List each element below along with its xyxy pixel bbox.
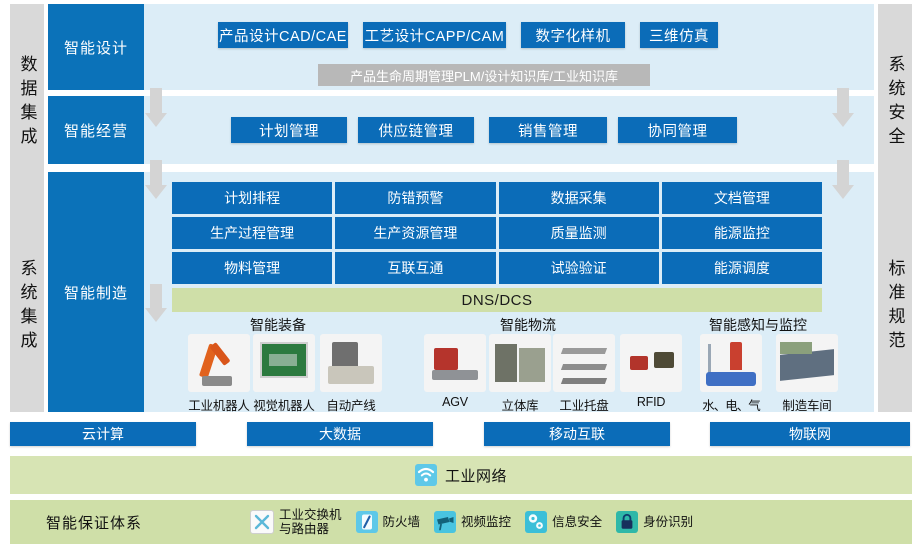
- assurance-item-video-surveillance-label: 视频监控: [461, 515, 511, 529]
- design-box-cad-cae[interactable]: 产品设计CAD/CAE: [218, 22, 348, 48]
- assurance-item-information-security-label: 信息安全: [552, 515, 602, 529]
- device-manufacturing-workshop[interactable]: 制造车间: [776, 334, 838, 414]
- automatic-line-icon: [320, 334, 382, 392]
- mfg-cell-energy-scheduling-label: 能源调度: [714, 258, 770, 278]
- category-smart-manufacture-label: 智能制造: [64, 282, 128, 303]
- assurance-item-identity-recognition[interactable]: 身份识别: [616, 511, 693, 533]
- assurance-switch-line2: 与路由器: [279, 522, 342, 536]
- manufacture-capability-grid: 计划排程 防错预警 数据采集 文档管理 生产过程管理 生产资源管理 质量监测 能…: [172, 182, 822, 284]
- mfg-cell-energy-monitoring[interactable]: 能源监控: [662, 217, 822, 249]
- category-smart-manufacture[interactable]: 智能制造: [48, 172, 144, 412]
- design-box-digital-prototype[interactable]: 数字化样机: [521, 22, 625, 48]
- vision-robot-icon: [253, 334, 315, 392]
- business-box-collaboration-label: 协同管理: [648, 120, 708, 141]
- category-smart-business[interactable]: 智能经营: [48, 96, 144, 164]
- industrial-network-band[interactable]: 工业网络: [10, 456, 912, 494]
- rail-system-integration-label: 系统集成: [19, 259, 36, 355]
- mfg-cell-material-management-label: 物料管理: [224, 258, 280, 278]
- business-box-collaboration[interactable]: 协同管理: [618, 117, 737, 143]
- mfg-cell-test-verification-label: 试验验证: [551, 258, 607, 278]
- mfg-cell-error-prevention-label: 防错预警: [387, 188, 443, 208]
- device-vision-robot-caption: 视觉机器人: [253, 395, 315, 414]
- assurance-item-switch-router-label: 工业交换机 与路由器: [279, 508, 342, 537]
- mfg-cell-production-process-label: 生产过程管理: [210, 223, 294, 243]
- assurance-title: 智能保证体系: [46, 512, 142, 533]
- mfg-cell-material-management[interactable]: 物料管理: [172, 252, 332, 284]
- rfid-icon: [620, 334, 682, 392]
- category-smart-business-label: 智能经营: [64, 120, 128, 141]
- stereo-warehouse-icon: [489, 334, 551, 392]
- device-section-title-smart-logistics: 智能物流: [448, 315, 608, 335]
- flow-arrow-left-business-to-manufacture: [145, 160, 167, 202]
- device-automatic-line-caption: 自动产线: [320, 395, 382, 414]
- design-box-capp-cam[interactable]: 工艺设计CAPP/CAM: [363, 22, 506, 48]
- mfg-cell-quality-monitoring-label: 质量监测: [551, 223, 607, 243]
- design-box-3d-simulation[interactable]: 三维仿真: [640, 22, 718, 48]
- manufacturing-workshop-icon: [776, 334, 838, 392]
- business-box-sales-management-label: 销售管理: [518, 120, 578, 141]
- assurance-switch-line1: 工业交换机: [279, 508, 342, 522]
- rail-standards: 标准规范: [878, 202, 912, 412]
- business-box-sales-management[interactable]: 销售管理: [489, 117, 607, 143]
- device-vision-robot[interactable]: 视觉机器人: [253, 334, 315, 414]
- bottom-strip: [0, 544, 922, 554]
- assurance-item-video-surveillance[interactable]: 视频监控: [434, 511, 511, 533]
- category-smart-design-label: 智能设计: [64, 37, 128, 58]
- utility-icon: [700, 334, 762, 392]
- category-smart-design[interactable]: 智能设计: [48, 4, 144, 90]
- infrastructure-iot-label: 物联网: [789, 424, 831, 444]
- device-water-power-gas-caption: 水、电、气: [700, 395, 762, 414]
- industrial-robot-icon: [188, 334, 250, 392]
- gears-icon: [525, 511, 547, 533]
- flow-arrow-right-design-to-business: [832, 88, 854, 130]
- mfg-cell-test-verification[interactable]: 试验验证: [499, 252, 659, 284]
- mfg-cell-energy-monitoring-label: 能源监控: [714, 223, 770, 243]
- mfg-cell-production-resource-label: 生产资源管理: [373, 223, 457, 243]
- mfg-cell-data-collection[interactable]: 数据采集: [499, 182, 659, 214]
- design-box-3d-simulation-label: 三维仿真: [649, 25, 709, 46]
- rail-system-security-label: 系统安全: [887, 55, 904, 151]
- flow-arrow-right-business-to-manufacture: [832, 160, 854, 202]
- agv-icon: [424, 334, 486, 392]
- mfg-cell-document-management[interactable]: 文档管理: [662, 182, 822, 214]
- mfg-cell-document-management-label: 文档管理: [714, 188, 770, 208]
- plm-knowledge-bar-label: 产品生命周期管理PLM/设计知识库/工业知识库: [350, 66, 618, 85]
- lock-icon: [616, 511, 638, 533]
- device-stereo-warehouse-caption: 立体库: [489, 395, 551, 414]
- mfg-cell-production-resource[interactable]: 生产资源管理: [335, 217, 495, 249]
- infrastructure-mobile-internet-label: 移动互联: [549, 424, 605, 444]
- switch-icon: [250, 510, 274, 534]
- device-rfid[interactable]: RFID: [620, 334, 682, 409]
- flow-arrow-left-manufacture-to-devices: [145, 284, 167, 324]
- industrial-pallet-icon: [553, 334, 615, 392]
- infrastructure-big-data-label: 大数据: [319, 424, 361, 444]
- rail-standards-label: 标准规范: [887, 259, 904, 355]
- device-section-title-smart-sensing: 智能感知与监控: [668, 315, 848, 335]
- assurance-item-identity-recognition-label: 身份识别: [643, 515, 693, 529]
- dns-dcs-bar-label: DNS/DCS: [461, 292, 532, 309]
- mfg-cell-interconnection-label: 互联互通: [387, 258, 443, 278]
- business-box-supply-chain[interactable]: 供应链管理: [358, 117, 474, 143]
- assurance-item-information-security[interactable]: 信息安全: [525, 511, 602, 533]
- device-section-title-smart-equipment: 智能装备: [198, 315, 358, 335]
- infrastructure-cloud-computing[interactable]: 云计算: [10, 422, 196, 446]
- business-box-plan-management-label: 计划管理: [259, 120, 319, 141]
- business-box-supply-chain-label: 供应链管理: [379, 120, 454, 141]
- infrastructure-mobile-internet[interactable]: 移动互联: [484, 422, 670, 446]
- device-industrial-pallet[interactable]: 工业托盘: [553, 334, 615, 414]
- mfg-cell-data-collection-label: 数据采集: [551, 188, 607, 208]
- device-industrial-robot-caption: 工业机器人: [188, 395, 250, 414]
- mfg-cell-quality-monitoring[interactable]: 质量监测: [499, 217, 659, 249]
- device-agv[interactable]: AGV: [424, 334, 486, 409]
- dns-dcs-bar[interactable]: DNS/DCS: [172, 288, 822, 312]
- assurance-item-switch-router[interactable]: 工业交换机 与路由器: [250, 508, 342, 537]
- device-industrial-robot[interactable]: 工业机器人: [188, 334, 250, 414]
- assurance-item-list: 工业交换机 与路由器 防火墙: [250, 508, 693, 537]
- mfg-cell-planning-scheduling[interactable]: 计划排程: [172, 182, 332, 214]
- assurance-item-firewall[interactable]: 防火墙: [356, 511, 421, 533]
- architecture-diagram: 数据集成 系统集成 系统安全 标准规范 智能设计 智能经营 智能制造 产品设计C…: [0, 0, 922, 554]
- mfg-cell-production-process[interactable]: 生产过程管理: [172, 217, 332, 249]
- design-box-capp-cam-label: 工艺设计CAPP/CAM: [365, 25, 505, 46]
- flow-arrow-left-design-to-business: [145, 88, 167, 130]
- plm-knowledge-bar[interactable]: 产品生命周期管理PLM/设计知识库/工业知识库: [318, 64, 650, 86]
- infrastructure-cloud-computing-label: 云计算: [82, 424, 124, 444]
- assurance-band: 智能保证体系 工业交换机 与路由器: [10, 500, 912, 544]
- device-industrial-pallet-caption: 工业托盘: [553, 395, 615, 414]
- assurance-item-firewall-label: 防火墙: [383, 515, 421, 529]
- infrastructure-iot[interactable]: 物联网: [710, 422, 910, 446]
- device-stereo-warehouse[interactable]: 立体库: [489, 334, 551, 414]
- mfg-cell-interconnection[interactable]: 互联互通: [335, 252, 495, 284]
- wifi-icon: [415, 464, 437, 486]
- mfg-cell-error-prevention[interactable]: 防错预警: [335, 182, 495, 214]
- infrastructure-big-data[interactable]: 大数据: [247, 422, 433, 446]
- device-manufacturing-workshop-caption: 制造车间: [776, 395, 838, 414]
- mfg-cell-planning-scheduling-label: 计划排程: [224, 188, 280, 208]
- firewall-icon: [356, 511, 378, 533]
- device-water-power-gas[interactable]: 水、电、气: [700, 334, 762, 414]
- rail-data-integration: 数据集成: [10, 4, 44, 202]
- industrial-network-label: 工业网络: [445, 465, 507, 486]
- device-agv-caption: AGV: [424, 395, 486, 409]
- device-automatic-line[interactable]: 自动产线: [320, 334, 382, 414]
- mfg-cell-energy-scheduling[interactable]: 能源调度: [662, 252, 822, 284]
- rail-data-integration-label: 数据集成: [19, 55, 36, 151]
- design-box-digital-prototype-label: 数字化样机: [536, 25, 611, 46]
- camera-icon: [434, 511, 456, 533]
- design-box-cad-cae-label: 产品设计CAD/CAE: [219, 25, 347, 46]
- rail-system-integration: 系统集成: [10, 202, 44, 412]
- device-rfid-caption: RFID: [620, 395, 682, 409]
- rail-system-security: 系统安全: [878, 4, 912, 202]
- business-box-plan-management[interactable]: 计划管理: [231, 117, 347, 143]
